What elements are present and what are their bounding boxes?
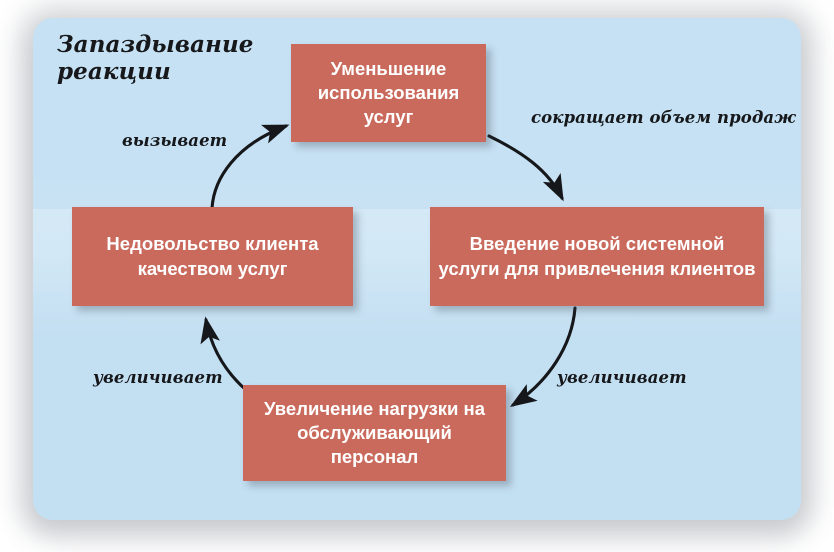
diagram-title-line-2: реакции [57,59,297,86]
node-customer-dissatisfaction-label: Недовольство клиента качеством услуг [80,232,345,280]
node-new-service-label: Введение новой системной услуги для прив… [438,232,756,280]
edge-label-increases-dissatisfaction: увеличивает [93,368,223,387]
node-customer-dissatisfaction[interactable]: Недовольство клиента качеством услуг [72,207,353,306]
edge-label-causes: вызывает [122,131,227,150]
edge-label-reduces-sales: сокращает объем продаж [531,108,796,127]
node-staff-load[interactable]: Увеличение нагрузки на обслуживающий пер… [243,385,506,481]
edge-label-increases-load: увеличивает [557,368,687,387]
diagram-title-line-1: Запаздывание [57,32,297,59]
diagram-title: Запаздывание реакции [57,32,297,85]
node-reduced-usage[interactable]: Уменьшение использования услуг [291,44,486,142]
diagram-canvas: Запаздывание реакции Уменьшение использо… [0,0,834,552]
node-reduced-usage-label: Уменьшение использования услуг [299,57,478,129]
node-staff-load-label: Увеличение нагрузки на обслуживающий пер… [251,397,498,469]
node-new-service[interactable]: Введение новой системной услуги для прив… [430,207,764,306]
